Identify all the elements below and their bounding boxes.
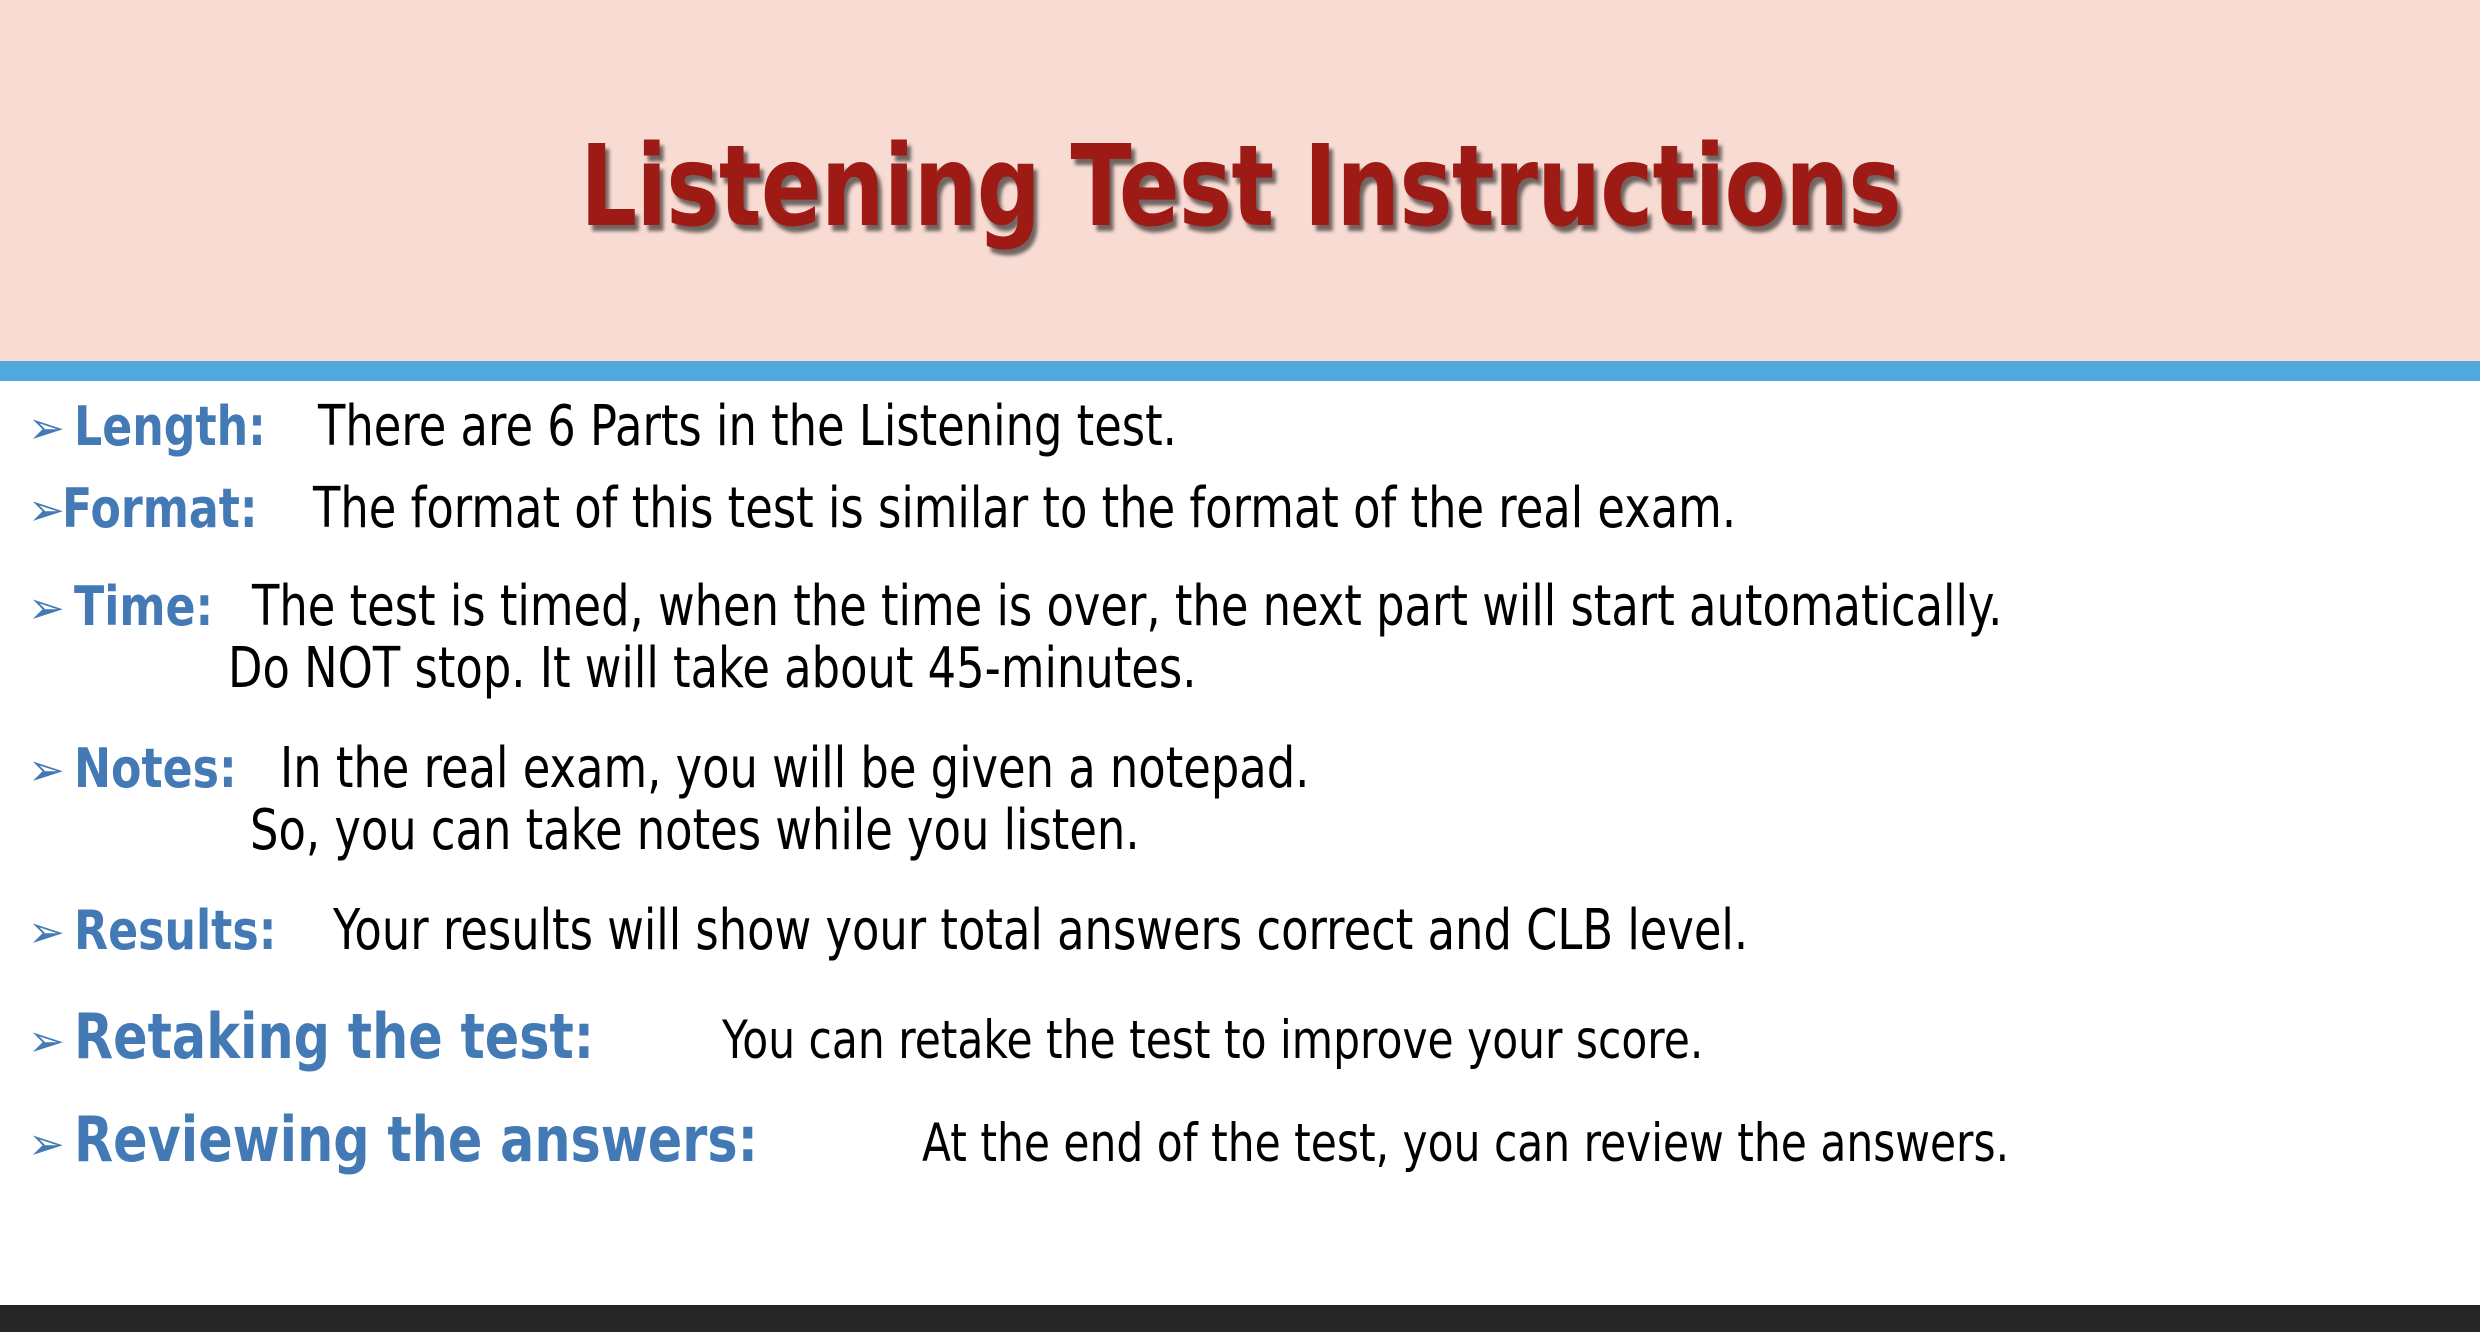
arrow-bullet-icon: ➢ xyxy=(28,587,74,631)
list-item: ➢ Notes: In the real exam, you will be g… xyxy=(28,741,1567,797)
list-item: ➢ Retaking the test: You can retake the … xyxy=(28,1006,1949,1068)
arrow-bullet-icon: ➢ xyxy=(28,489,62,533)
arrow-bullet-icon: ➢ xyxy=(28,407,74,451)
bullet-label: Time: xyxy=(74,580,213,634)
arrow-bullet-icon: ➢ xyxy=(28,1123,74,1167)
bullet-continuation-line: Do NOT stop. It will take about 45-minut… xyxy=(228,641,1439,697)
bullet-text: At the end of the test, you can review t… xyxy=(922,1117,2009,1170)
page-title: Listening Test Instructions xyxy=(580,131,1901,243)
list-item: ➢ Length: There are 6 Parts in the Liste… xyxy=(28,399,1392,455)
presentation-slide: Listening Test Instructions ➢ Length: Th… xyxy=(0,0,2480,1332)
arrow-bullet-icon: ➢ xyxy=(28,749,74,793)
bullet-text: You can retake the test to improve your … xyxy=(722,1014,1703,1067)
bottom-accent-bar xyxy=(0,1305,2480,1332)
bullet-text: The test is timed, when the time is over… xyxy=(252,579,2002,635)
bullet-text: There are 6 Parts in the Listening test. xyxy=(318,399,1177,455)
arrow-bullet-icon: ➢ xyxy=(28,1020,74,1064)
bullet-text: Your results will show your total answer… xyxy=(333,903,1748,959)
bullet-label: Reviewing the answers: xyxy=(74,1109,758,1171)
list-item: ➢ Time: The test is timed, when the time… xyxy=(28,579,2440,635)
bullet-label: Notes: xyxy=(74,742,237,796)
accent-divider-rule xyxy=(0,361,2480,381)
bullet-continuation-line: So, you can take notes while you listen. xyxy=(250,803,1362,859)
bullet-continuation-text: Do NOT stop. It will take about 45-minut… xyxy=(228,641,1196,697)
slide-body: ➢ Length: There are 6 Parts in the Liste… xyxy=(0,381,2480,1305)
bullet-label: Format: xyxy=(62,482,258,536)
bullet-text: In the real exam, you will be given a no… xyxy=(280,741,1309,797)
bullet-label: Length: xyxy=(74,400,266,454)
list-item: ➢ Results: Your results will show your t… xyxy=(28,903,2102,959)
bullet-label: Results: xyxy=(74,904,276,958)
arrow-bullet-icon: ➢ xyxy=(28,911,74,955)
bullet-continuation-text: So, you can take notes while you listen. xyxy=(250,803,1140,859)
list-item: ➢ Reviewing the answers: At the end of t… xyxy=(28,1109,2281,1171)
list-item: ➢ Format: The format of this test is sim… xyxy=(28,481,2091,537)
bullet-label: Retaking the test: xyxy=(74,1006,594,1068)
bullet-text: The format of this test is similar to th… xyxy=(313,481,1736,537)
title-banner: Listening Test Instructions xyxy=(0,0,2480,361)
